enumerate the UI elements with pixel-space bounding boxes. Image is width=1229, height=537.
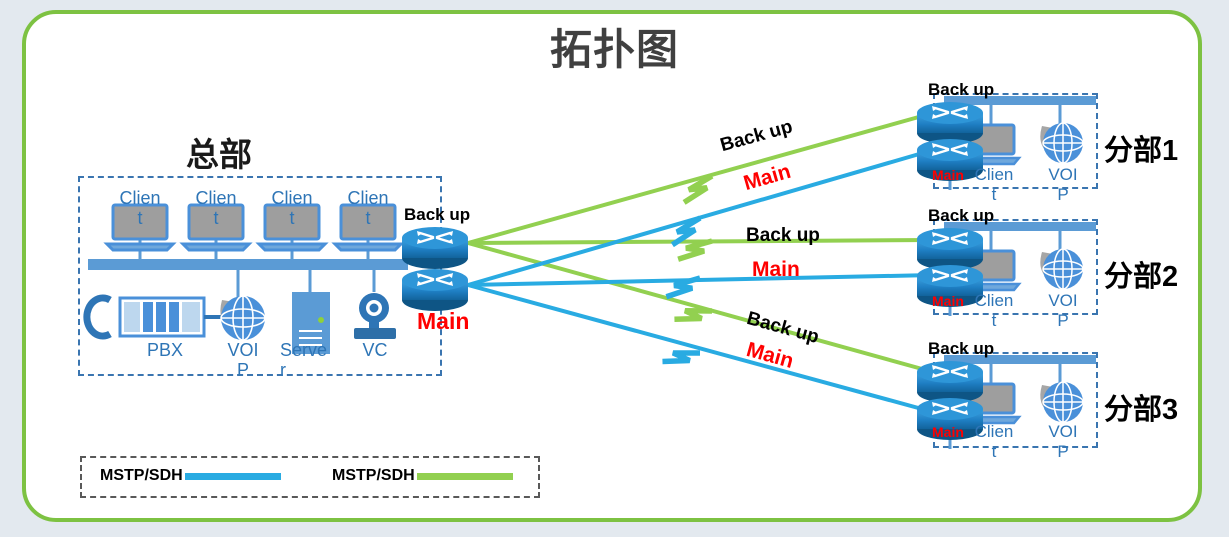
branch-3-client-label: Client xyxy=(968,422,1020,462)
branch-2-voip-label: VOIP xyxy=(1037,291,1089,331)
legend-label-main: MSTP/SDH xyxy=(100,467,183,485)
hq-pbx-label: PBX xyxy=(130,340,200,360)
legend-item-mstp-sdh-main: MSTP/SDH xyxy=(100,467,281,485)
hq-client-label-2: Client xyxy=(189,188,243,228)
branch-2-backup-label: Back up xyxy=(928,206,994,226)
branch-1-client-label: Client xyxy=(968,165,1020,205)
branch-3-name: 分部3 xyxy=(1104,386,1178,428)
branch-3-backup-label: Back up xyxy=(928,339,994,359)
legend-swatch-backup xyxy=(417,473,513,480)
legend-item-mstp-sdh-backup: MSTP/SDH xyxy=(332,467,513,485)
legend-swatch-main xyxy=(185,473,281,480)
branch-1-main-label: Main xyxy=(932,167,964,183)
branch-2-main-label: Main xyxy=(932,293,964,309)
branch-1-voip-label: VOIP xyxy=(1037,165,1089,205)
hq-client-label-3: Client xyxy=(265,188,319,228)
branch-3-voip-label: VOIP xyxy=(1037,422,1089,462)
link-2-backup-label: Back up xyxy=(746,225,820,247)
page-title: 拓扑图 xyxy=(0,16,1229,77)
legend-label-backup: MSTP/SDH xyxy=(332,467,415,485)
branch-3-main-label: Main xyxy=(932,424,964,440)
hq-voip-label: VOIP xyxy=(211,340,275,380)
branch-2-client-label: Client xyxy=(968,291,1020,331)
hq-server-label: Server xyxy=(280,340,342,380)
branch-1-backup-label: Back up xyxy=(928,80,994,100)
hq-client-label-1: Client xyxy=(113,188,167,228)
branch-2-name: 分部2 xyxy=(1104,253,1178,295)
hq-router-main-label: Main xyxy=(417,308,469,335)
hq-client-label-4: Client xyxy=(341,188,395,228)
hq-title: 总部 xyxy=(186,128,252,176)
topology-diagram: 拓扑图 总部 xyxy=(0,0,1229,537)
hq-vc-label: VC xyxy=(352,340,398,360)
link-2-main-label: Main xyxy=(752,258,800,282)
branch-1-name: 分部1 xyxy=(1104,127,1178,169)
hq-router-backup-label: Back up xyxy=(404,205,470,225)
legend: MSTP/SDH MSTP/SDH xyxy=(80,456,540,498)
